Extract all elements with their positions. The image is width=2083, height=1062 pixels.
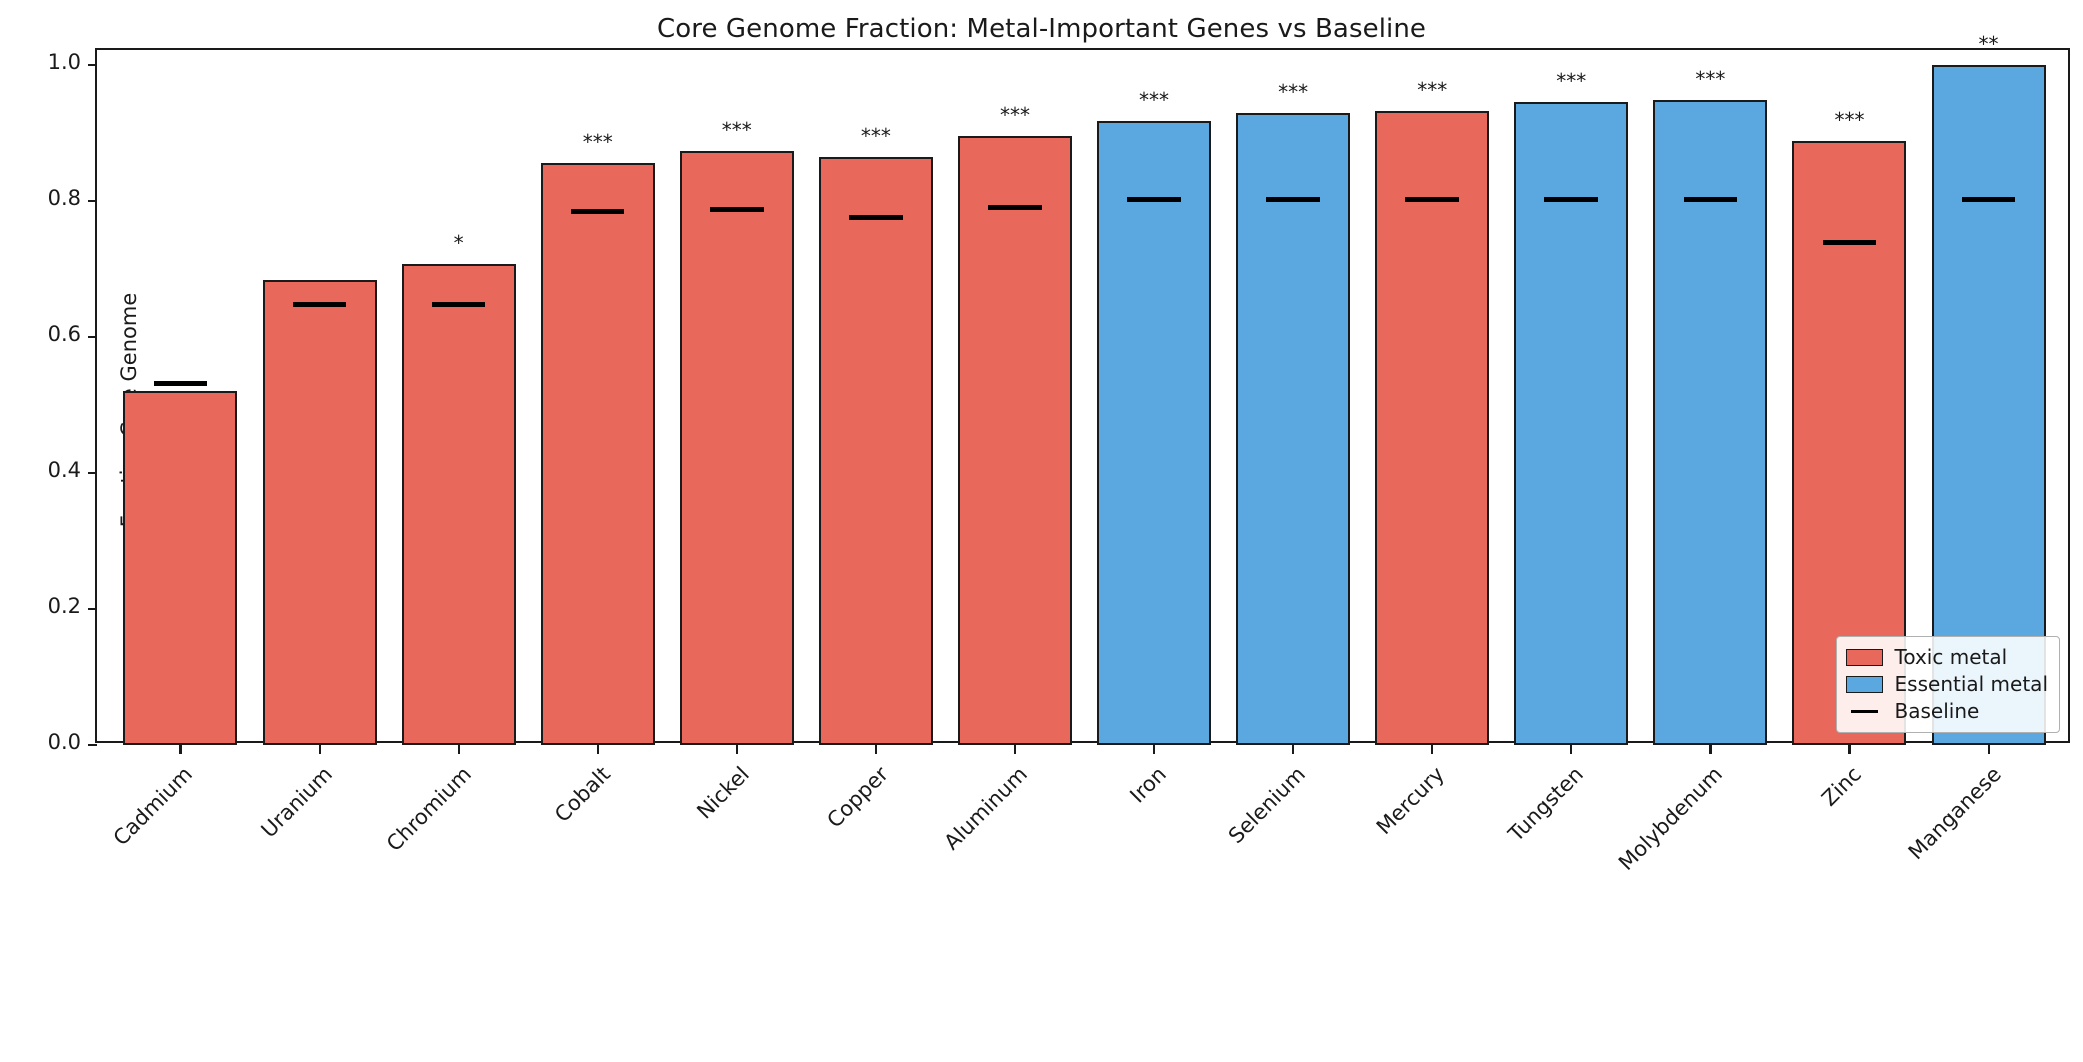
x-tick-label: Copper: [593, 762, 893, 1062]
significance-label-manganese: **: [1929, 32, 2049, 56]
legend-item-toxic-metal[interactable]: Toxic metal: [1846, 644, 2048, 671]
legend-swatch-icon: [1846, 676, 1883, 693]
baseline-marker-cadmium: [154, 381, 208, 386]
baseline-marker-uranium: [293, 302, 347, 307]
baseline-marker-nickel: [710, 207, 764, 212]
y-tick-line: [88, 64, 97, 66]
baseline-marker-zinc: [1823, 240, 1877, 245]
x-tick-line: [1709, 745, 1711, 754]
x-tick-line: [736, 745, 738, 754]
y-tick-line: [88, 744, 97, 746]
baseline-marker-iron: [1127, 197, 1181, 202]
bar-cobalt[interactable]: [541, 163, 655, 745]
baseline-marker-molybdenum: [1684, 197, 1738, 202]
significance-label-tungsten: ***: [1511, 69, 1631, 93]
legend-item-baseline[interactable]: Baseline: [1846, 698, 2048, 725]
significance-label-zinc: ***: [1789, 108, 1909, 132]
bar-mercury[interactable]: [1375, 111, 1489, 745]
x-tick-line: [179, 745, 181, 754]
baseline-marker-tungsten: [1544, 197, 1598, 202]
x-tick-line: [1292, 745, 1294, 754]
bar-nickel[interactable]: [680, 151, 794, 745]
x-tick-line: [1848, 745, 1850, 754]
baseline-marker-selenium: [1266, 197, 1320, 202]
x-tick-label: Iron: [871, 762, 1171, 1062]
y-tick-label: 1.0: [48, 50, 81, 74]
y-tick-line: [88, 472, 97, 474]
significance-label-aluminum: ***: [955, 103, 1075, 127]
significance-label-iron: ***: [1094, 88, 1214, 112]
significance-label-copper: ***: [816, 124, 936, 148]
y-tick-line: [88, 608, 97, 610]
bar-iron[interactable]: [1097, 121, 1211, 745]
plot-area: Fraction Core Genome 0.00.20.40.60.81.0 …: [95, 48, 2070, 743]
chart-figure: Core Genome Fraction: Metal-Important Ge…: [0, 0, 2083, 883]
y-tick-label: 0.0: [48, 730, 81, 754]
y-tick-label: 0.8: [48, 186, 81, 210]
x-tick-line: [1431, 745, 1433, 754]
y-tick-label: 0.2: [48, 594, 81, 618]
x-tick-line: [1153, 745, 1155, 754]
legend-line-glyph: [1851, 710, 1878, 712]
legend-label: Baseline: [1895, 699, 1980, 725]
x-tick-line: [1570, 745, 1572, 754]
significance-label-cobalt: ***: [538, 130, 658, 154]
x-tick-label: Aluminum: [732, 762, 1032, 1062]
x-tick-label: Selenium: [1010, 762, 1310, 1062]
chart-title: Core Genome Fraction: Metal-Important Ge…: [0, 14, 2083, 44]
x-tick-line: [319, 745, 321, 754]
y-tick-label: 0.4: [48, 458, 81, 482]
bar-chromium[interactable]: [402, 264, 516, 745]
significance-label-molybdenum: ***: [1650, 67, 1770, 91]
chart-legend[interactable]: Toxic metalEssential metalBaseline: [1836, 636, 2060, 733]
baseline-marker-copper: [849, 215, 903, 220]
legend-line-icon: [1846, 703, 1883, 720]
legend-label: Essential metal: [1895, 672, 2048, 698]
x-tick-line: [875, 745, 877, 754]
significance-label-mercury: ***: [1372, 78, 1492, 102]
x-tick-line: [597, 745, 599, 754]
y-tick-label: 0.6: [48, 322, 81, 346]
bar-cadmium[interactable]: [123, 391, 237, 745]
x-tick-label: Nickel: [454, 762, 754, 1062]
x-tick-label: Uranium: [37, 762, 337, 1062]
legend-item-essential-metal[interactable]: Essential metal: [1846, 671, 2048, 698]
baseline-marker-mercury: [1405, 197, 1459, 202]
baseline-marker-aluminum: [988, 205, 1042, 210]
x-tick-label: Tungsten: [1288, 762, 1588, 1062]
bar-aluminum[interactable]: [958, 136, 1072, 745]
bar-copper[interactable]: [819, 157, 933, 745]
baseline-marker-cobalt: [571, 209, 625, 214]
significance-label-nickel: ***: [677, 118, 797, 142]
x-tick-label: Chromium: [176, 762, 476, 1062]
x-tick-label: Molybdenum: [1428, 762, 1728, 1062]
baseline-marker-chromium: [432, 302, 486, 307]
legend-swatch-icon: [1846, 649, 1883, 666]
x-tick-line: [1988, 745, 1990, 754]
x-tick-line: [1014, 745, 1016, 754]
baseline-marker-manganese: [1962, 197, 2016, 202]
bar-uranium[interactable]: [263, 280, 377, 745]
x-tick-label: Zinc: [1567, 762, 1867, 1062]
y-tick-line: [88, 200, 97, 202]
x-tick-label: Cobalt: [315, 762, 615, 1062]
x-tick-label: Mercury: [1149, 762, 1449, 1062]
significance-label-selenium: ***: [1233, 80, 1353, 104]
x-tick-label: Manganese: [1706, 762, 2006, 1062]
x-tick-line: [458, 745, 460, 754]
legend-label: Toxic metal: [1895, 645, 2008, 671]
bar-selenium[interactable]: [1236, 113, 1350, 745]
significance-label-chromium: *: [399, 231, 519, 255]
y-tick-line: [88, 336, 97, 338]
